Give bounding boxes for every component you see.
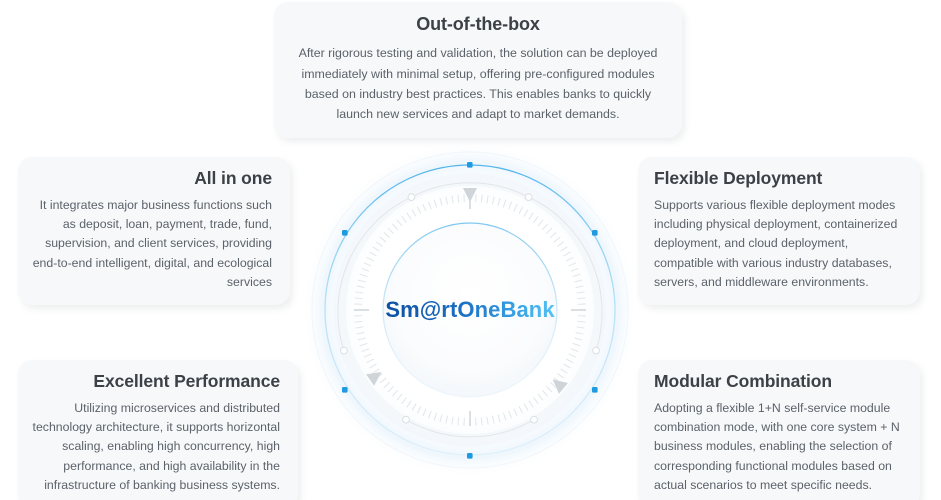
card-title-modular-combination: Modular Combination (654, 370, 906, 394)
ring-inner (383, 223, 557, 397)
card-modular-combination[interactable]: Modular Combination Adopting a flexible … (638, 360, 920, 500)
ring-node-dot (467, 162, 473, 168)
card-body-out-of-the-box: After rigorous testing and validation, t… (296, 43, 660, 124)
card-body-all-in-one: It integrates major business functions s… (32, 196, 272, 293)
card-title-excellent-performance: Excellent Performance (32, 370, 280, 394)
card-all-in-one[interactable]: All in one It integrates major business … (18, 157, 290, 305)
card-flexible-deployment[interactable]: Flexible Deployment Supports various fle… (638, 157, 920, 305)
page-root: Out-of-the-box After rigorous testing an… (0, 0, 941, 500)
ring-node-dot (467, 453, 473, 459)
arc-endpoint-marker (341, 347, 348, 354)
card-out-of-the-box[interactable]: Out-of-the-box After rigorous testing an… (274, 2, 682, 138)
card-title-out-of-the-box: Out-of-the-box (296, 12, 660, 36)
ring-svg (300, 140, 640, 480)
card-body-flexible-deployment: Supports various flexible deployment mod… (654, 196, 906, 293)
arc-endpoint-marker (593, 347, 600, 354)
card-title-all-in-one: All in one (32, 167, 272, 191)
ring-node-dot (592, 387, 598, 393)
ring-node-dot (592, 230, 598, 236)
card-title-flexible-deployment: Flexible Deployment (654, 167, 906, 191)
ring-node-dot (342, 387, 348, 393)
card-excellent-performance[interactable]: Excellent Performance Utilizing microser… (18, 360, 298, 500)
arc-endpoint-marker (531, 416, 538, 423)
arc-endpoint-marker (403, 416, 410, 423)
center-ring-graphic: Sm@rtOneBank (300, 140, 640, 480)
ring-node-dot (342, 230, 348, 236)
card-body-excellent-performance: Utilizing microservices and distributed … (32, 399, 280, 496)
arc-endpoint-marker (525, 194, 532, 201)
arc-endpoint-marker (408, 194, 415, 201)
card-body-modular-combination: Adopting a flexible 1+N self-service mod… (654, 399, 906, 496)
